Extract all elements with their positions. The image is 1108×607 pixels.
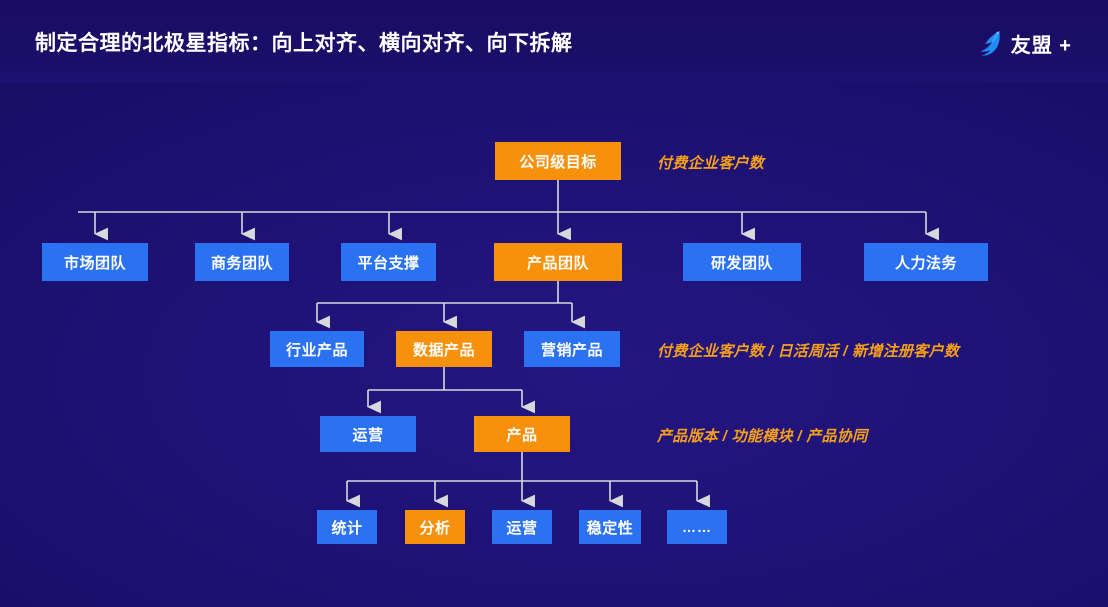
node-rd-team[interactable]: 研发团队: [683, 243, 801, 281]
page-title: 制定合理的北极星指标：向上对齐、横向对齐、向下拆解: [35, 27, 573, 57]
slide-canvas: 制定合理的北极星指标：向上对齐、横向对齐、向下拆解 友盟 +: [0, 0, 1108, 607]
annotation-level-1: 付费企业客户数: [657, 152, 764, 173]
node-analysis[interactable]: 分析: [405, 510, 465, 544]
connector-lines: [0, 0, 1108, 607]
node-product[interactable]: 产品: [474, 416, 570, 452]
brand-logo: 友盟 +: [974, 28, 1072, 58]
node-statistics[interactable]: 统计: [317, 510, 377, 544]
node-industry-product[interactable]: 行业产品: [270, 331, 364, 367]
node-business-team[interactable]: 商务团队: [195, 243, 289, 281]
node-more[interactable]: ……: [667, 510, 727, 544]
node-stability[interactable]: 稳定性: [579, 510, 641, 544]
node-hr-legal[interactable]: 人力法务: [864, 243, 988, 281]
node-company-goal[interactable]: 公司级目标: [495, 142, 621, 180]
brand-logo-text: 友盟 +: [1011, 29, 1072, 58]
annotation-level-4: 产品版本 / 功能模块 / 产品协同: [657, 425, 867, 446]
hummingbird-logo-icon: [974, 28, 1004, 58]
node-market-team[interactable]: 市场团队: [42, 243, 148, 281]
node-marketing-product[interactable]: 营销产品: [524, 331, 620, 367]
node-operations[interactable]: 运营: [320, 416, 416, 452]
node-product-team[interactable]: 产品团队: [494, 243, 622, 281]
node-operations-leaf[interactable]: 运营: [492, 510, 552, 544]
node-data-product[interactable]: 数据产品: [396, 331, 492, 367]
annotation-level-3: 付费企业客户数 / 日活周活 / 新增注册客户数: [657, 340, 959, 361]
node-platform-support[interactable]: 平台支撑: [341, 243, 436, 281]
